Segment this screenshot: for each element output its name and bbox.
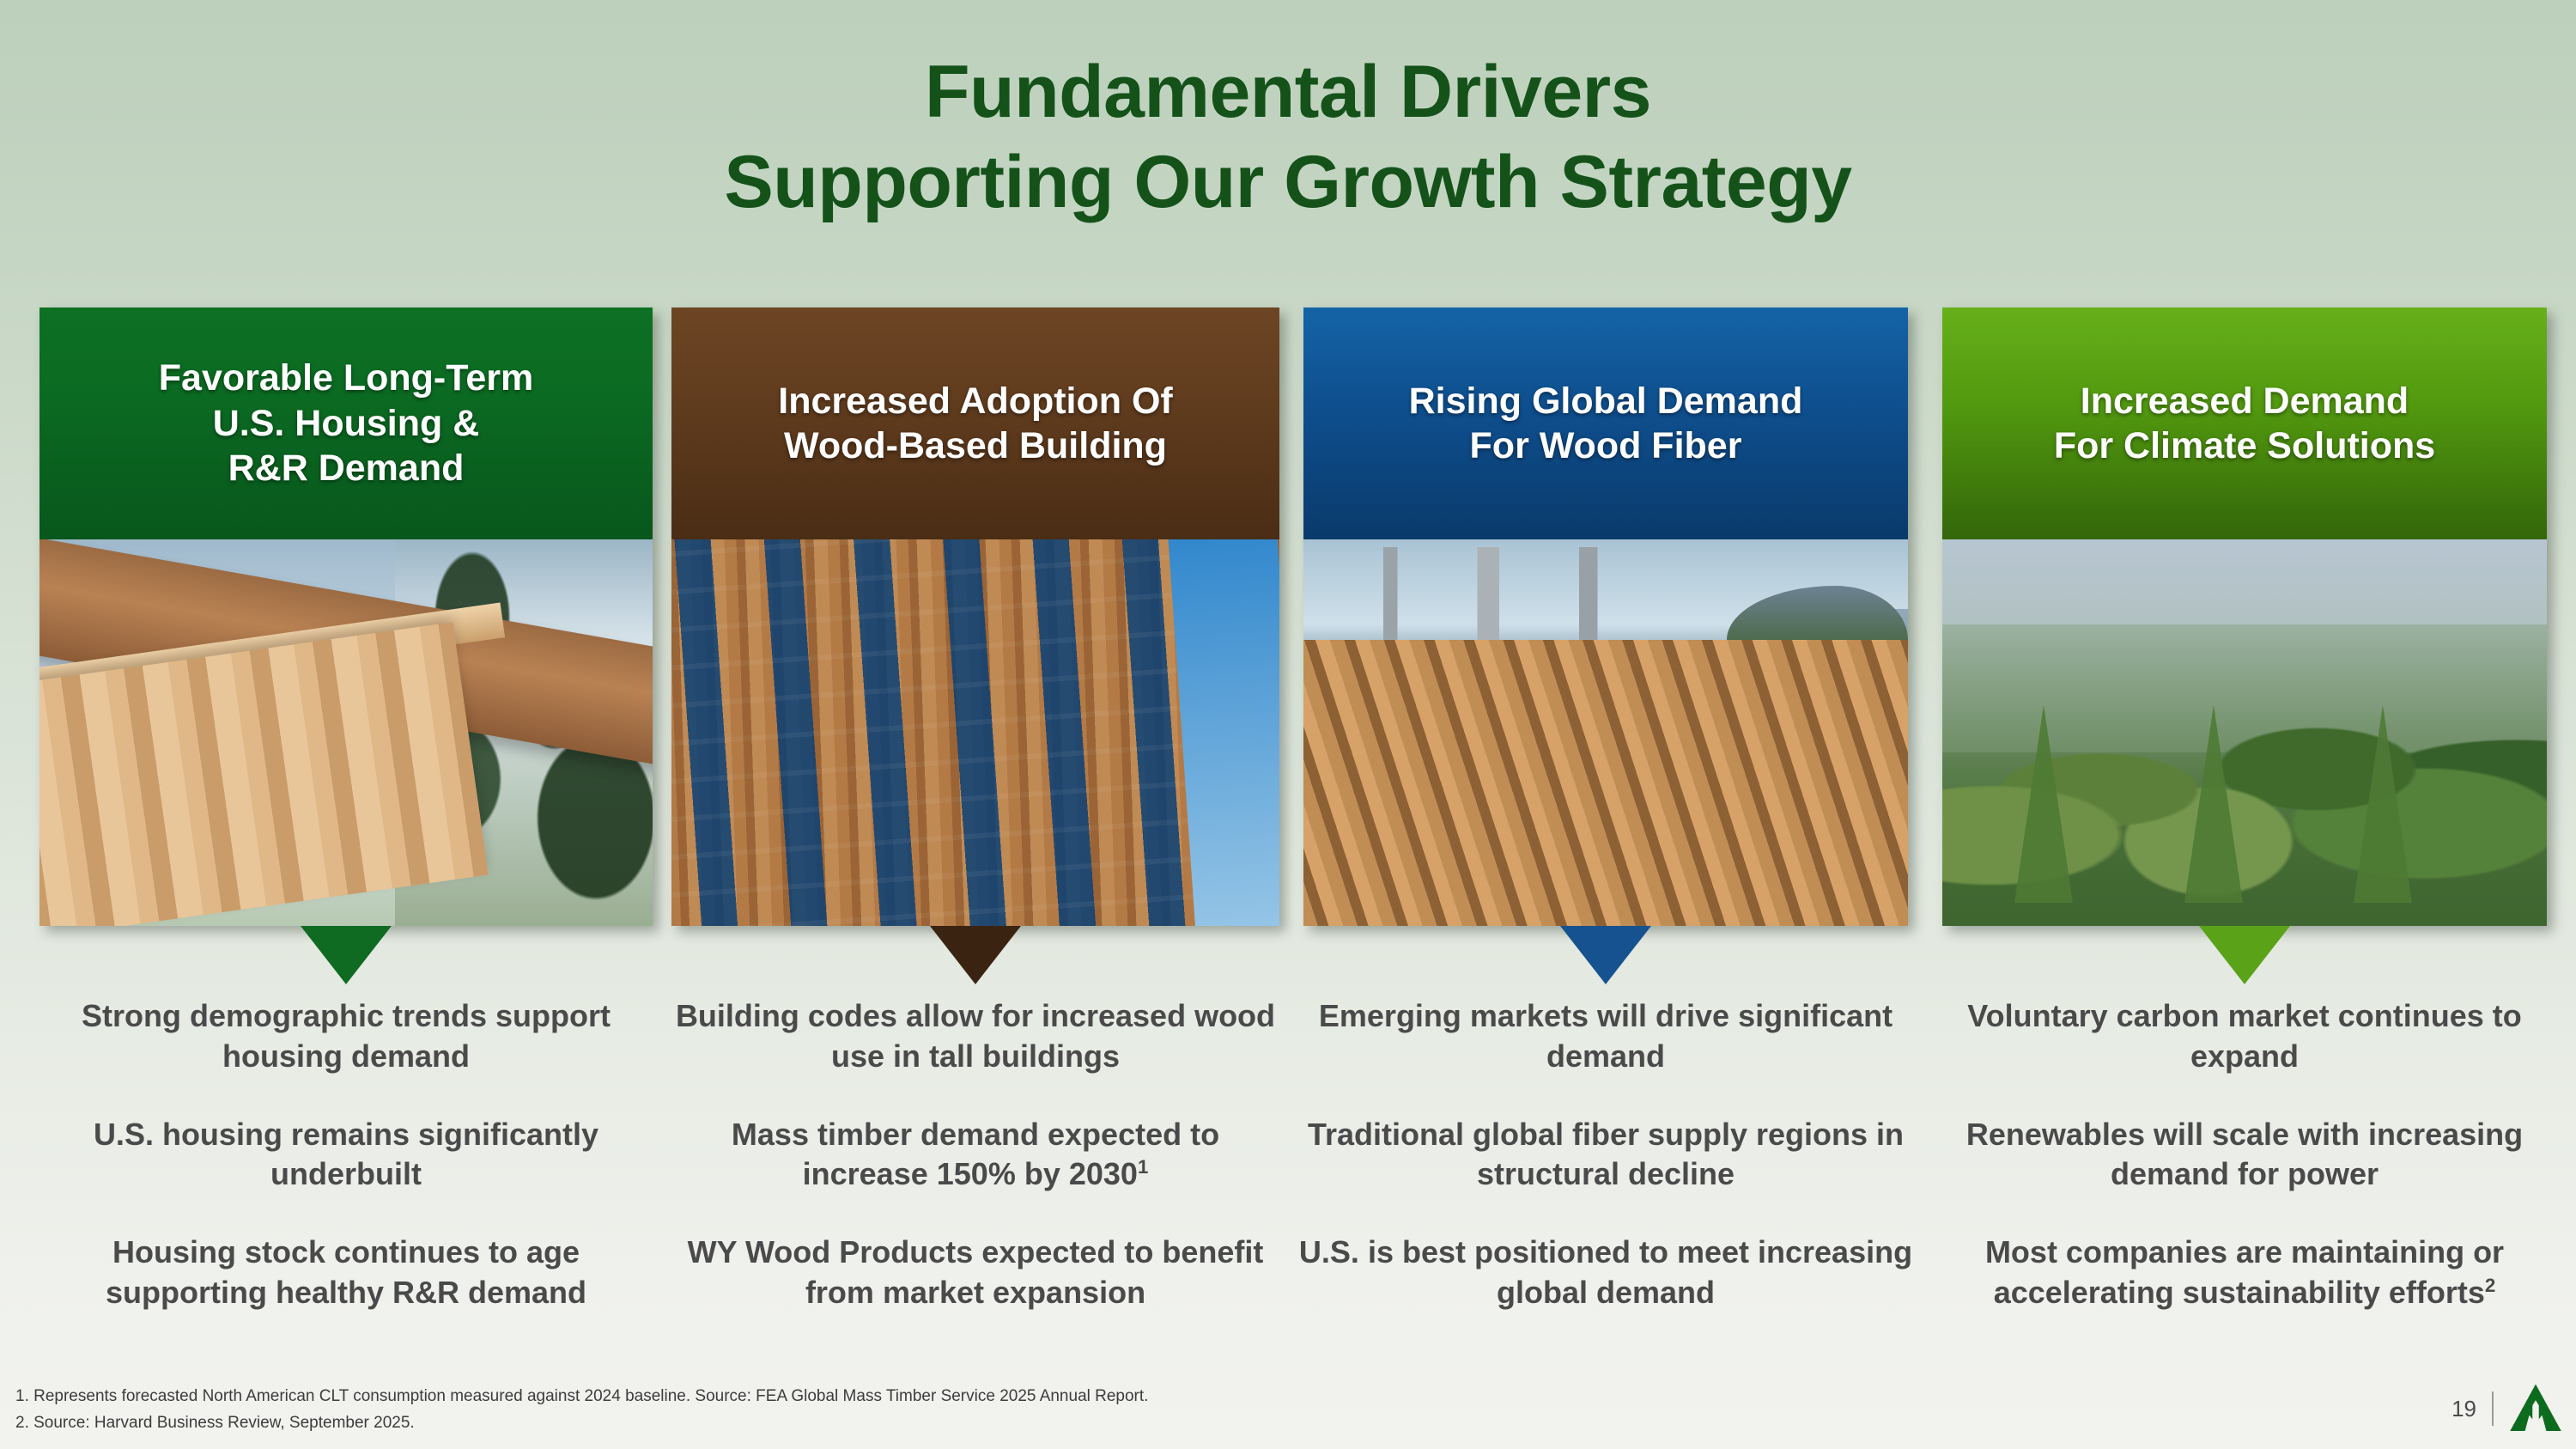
card-wood-fiber-header: Rising Global Demand For Wood Fiber xyxy=(1303,307,1908,539)
card-climate-arrow-icon xyxy=(2199,926,2290,984)
list-item: Most companies are maintaining or accele… xyxy=(1932,1233,2557,1313)
card-wood-fiber-image xyxy=(1303,539,1908,926)
card-climate-heading-line2: For Climate Solutions xyxy=(2054,423,2435,468)
title-line-2: Supporting Our Growth Strategy xyxy=(0,137,2576,228)
footnotes: 1. Represents forecasted North American … xyxy=(15,1384,1148,1437)
footnote-2: 2. Source: Harvard Business Review, Sept… xyxy=(15,1410,1148,1437)
bullets-wood-based-building: Building codes allow for increased wood … xyxy=(665,996,1285,1351)
card-wood-based-building-image xyxy=(671,539,1279,926)
list-item: Emerging markets will drive significant … xyxy=(1298,996,1913,1077)
weyerhaeuser-tree-logo-icon xyxy=(2509,1382,2562,1435)
footnote-ref-1: 1 xyxy=(1138,1156,1148,1178)
card-wood-heading-line1: Increased Adoption Of xyxy=(778,379,1173,423)
card-climate-solutions-header: Increased Demand For Climate Solutions xyxy=(1942,307,2547,539)
slide: Fundamental Drivers Supporting Our Growt… xyxy=(0,0,2576,1449)
card-climate-solutions-image xyxy=(1942,539,2547,926)
card-fiber-heading-line2: For Wood Fiber xyxy=(1409,423,1803,468)
footnote-ref-2: 2 xyxy=(2485,1275,2495,1296)
card-fiber-arrow-icon xyxy=(1560,926,1651,984)
card-housing-heading-line3: R&R Demand xyxy=(159,446,533,490)
page-title: Fundamental Drivers Supporting Our Growt… xyxy=(0,47,2576,228)
card-fiber-heading-line1: Rising Global Demand xyxy=(1409,379,1803,423)
card-housing-header: Favorable Long-Term U.S. Housing & R&R D… xyxy=(39,307,653,539)
card-wood-based-building[interactable]: Increased Adoption Of Wood-Based Buildin… xyxy=(671,307,1279,926)
card-climate-solutions[interactable]: Increased Demand For Climate Solutions xyxy=(1942,307,2547,926)
list-item: Strong demographic trends support housin… xyxy=(39,996,653,1077)
list-item: U.S. is best positioned to meet increasi… xyxy=(1298,1233,1913,1313)
card-wood-fiber[interactable]: Rising Global Demand For Wood Fiber xyxy=(1303,307,1908,926)
card-wood-based-building-header: Increased Adoption Of Wood-Based Buildin… xyxy=(671,307,1279,539)
page-footer: 19 xyxy=(2451,1382,2562,1435)
bullets-climate-solutions: Voluntary carbon market continues to exp… xyxy=(1932,996,2557,1351)
list-item: Renewables will scale with increasing de… xyxy=(1932,1115,2557,1196)
list-item: Traditional global fiber supply regions … xyxy=(1298,1115,1913,1196)
list-item: Housing stock continues to age supportin… xyxy=(39,1233,653,1313)
list-item: Building codes allow for increased wood … xyxy=(665,996,1285,1077)
driver-cards: Favorable Long-Term U.S. Housing & R&R D… xyxy=(0,307,2576,926)
bullets-housing: Strong demographic trends support housin… xyxy=(39,996,653,1351)
list-item: Voluntary carbon market continues to exp… xyxy=(1932,996,2557,1077)
list-item: WY Wood Products expected to benefit fro… xyxy=(665,1233,1285,1313)
card-housing-heading-line1: Favorable Long-Term xyxy=(159,356,533,400)
list-item: U.S. housing remains significantly under… xyxy=(39,1115,653,1196)
card-climate-heading-line1: Increased Demand xyxy=(2054,379,2435,423)
card-housing-heading-line2: U.S. Housing & xyxy=(159,401,533,446)
card-wood-heading-line2: Wood-Based Building xyxy=(778,423,1173,468)
footer-divider xyxy=(2492,1391,2494,1426)
title-line-1: Fundamental Drivers xyxy=(925,51,1651,133)
bullet-columns: Strong demographic trends support housin… xyxy=(0,996,2576,1357)
footnote-1: 1. Represents forecasted North American … xyxy=(15,1384,1148,1410)
card-wood-arrow-icon xyxy=(930,926,1021,984)
bullets-wood-fiber: Emerging markets will drive significant … xyxy=(1298,996,1913,1351)
card-housing[interactable]: Favorable Long-Term U.S. Housing & R&R D… xyxy=(39,307,653,926)
card-housing-image xyxy=(39,539,653,926)
card-housing-arrow-icon xyxy=(301,926,392,984)
page-number: 19 xyxy=(2451,1397,2476,1420)
list-item: Mass timber demand expected to increase … xyxy=(665,1115,1285,1196)
